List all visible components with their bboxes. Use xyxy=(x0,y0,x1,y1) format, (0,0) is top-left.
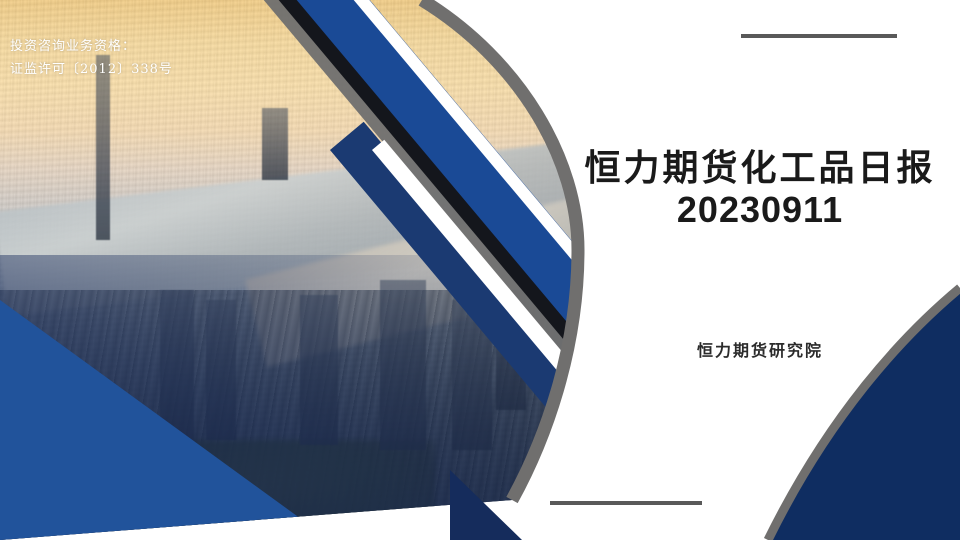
qualification-line-1: 投资咨询业务资格： xyxy=(10,36,173,59)
title-block: 恒力期货化工品日报 20230911 xyxy=(560,148,960,232)
bottom-decorative-rule xyxy=(550,501,702,505)
navy-corner-shape xyxy=(600,0,960,540)
photo-tower xyxy=(262,108,288,180)
navy-bottom-wedge xyxy=(450,470,580,540)
report-date: 20230911 xyxy=(560,188,960,232)
top-decorative-rule xyxy=(741,34,897,38)
qualification-text: 投资咨询业务资格： 证监许可〔2012〕338号 xyxy=(10,36,173,82)
page-title: 恒力期货化工品日报 xyxy=(560,148,960,188)
organization-name: 恒力期货研究院 xyxy=(560,337,960,361)
photo-tower xyxy=(96,55,110,240)
title-slide: 投资咨询业务资格： 证监许可〔2012〕338号 恒力期货化工品日报 20230… xyxy=(0,0,960,540)
qualification-line-2: 证监许可〔2012〕338号 xyxy=(10,59,173,82)
